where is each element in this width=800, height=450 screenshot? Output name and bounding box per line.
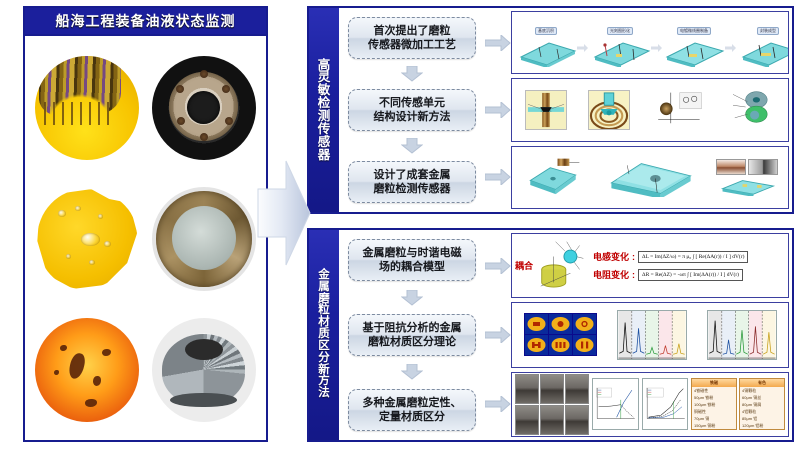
fab-step-4: 封装成型 [737,19,789,67]
result-table-nonferrous: 有色 4铜颗粒 60μm 铜丝 80μm 铜屑 4铝颗粒 85μm 铝 120μ… [739,378,785,430]
sensor-photo-icon [716,159,746,175]
photo-cell-5 [30,305,145,434]
step-chip-line1: 设计了成套金属 [352,168,472,182]
step-chip-line2: 传感器微加工工艺 [352,38,472,52]
fab-step-label: 封装成型 [757,27,779,35]
table-row: 85μm 铝 [740,415,784,422]
particle-3d-plot [650,89,706,130]
fab-step-label: 光刻图形化 [607,27,633,35]
sensor-photos-and-section [716,159,780,196]
right-arrow-icon [577,39,589,47]
fab-step-label: 电镀微线圈制备 [677,27,711,35]
table-header: 铁磁 [692,379,736,387]
table-row: 4铁磁性 [692,387,736,394]
black-hub-rusty-flange-photo [152,56,256,160]
orange-oil-with-debris-photo [35,318,139,422]
sensor-assembly-figure [511,146,789,209]
particle-photo-grid [515,374,589,435]
substrate-slab-icon [515,37,577,67]
inductance-formula: ΔL = Im(ΔZ/ω) = π μ₀ ∫ [ Re(ΔA(r)) / I ]… [638,251,748,263]
step-chip-line2: 定量材质区分 [352,410,472,424]
step-chip-line2: 结构设计新方法 [352,110,472,124]
step-chip-4[interactable]: 金属磨粒与时谐电磁 场的耦合模型 [348,239,476,281]
step-chip-line1: 首次提出了磨粒 [352,24,472,38]
step-chip-1[interactable]: 首次提出了磨粒 传感器微加工工艺 [348,17,476,59]
impedance-heatmap-grid [524,313,597,356]
poster-canvas: 船海工程装备油液状态监测 [0,0,800,450]
panel-2-figure-rows: 耦合 [485,233,789,437]
table-row: 4铝颗粒 [740,408,784,415]
sensing-unit-structure-figure [511,78,789,141]
table-row: 铜磁性 [692,408,736,415]
spectra-chart-left [617,310,687,360]
sidebar-char: 金 [318,270,330,282]
table-header: 有色 [740,379,784,387]
right-arrow-icon [485,327,511,343]
figure-row-2 [485,78,789,141]
step-chip-line2: 磨粒检测传感器 [352,182,472,196]
photo-cell-1 [30,44,145,173]
panel-2-sidebar-title: 金 属 磨 粒 材 质 区 分 新 方 法 [309,230,339,440]
panel-1-step-flow: 首次提出了磨粒 传感器微加工工艺 不同传感单元 结构设计新方法 设计了成套金属 … [339,8,485,212]
oil-sample-dark-streaks-photo [35,56,139,160]
fab-step-3: 电镀微线圈制备 [663,19,725,67]
down-arrow-icon [401,364,423,380]
sidebar-char: 属 [318,282,330,294]
step-chip-line1: 不同传感单元 [352,96,472,110]
table-row: 4铜颗粒 [740,387,784,394]
coupling-diagram [537,238,589,293]
photo-cell-3 [30,175,145,304]
corroded-bearing-ring-photo [152,187,256,291]
figure-row-4: 耦合 [485,233,789,298]
photo-cell-6 [147,305,262,434]
table-row: 50μm 铁粉 [692,394,736,401]
down-arrow-icon [401,66,423,82]
step-chip-3[interactable]: 设计了成套金属 磨粒检测传感器 [348,161,476,203]
step-chip-line1: 金属磨粒与时谐电磁 [352,246,472,260]
table-row: 80μm 铜屑 [740,401,784,408]
step-chip-5[interactable]: 基于阻抗分析的金属 磨粒材质区分理论 [348,314,476,356]
inductance-change-label: 电感变化 [593,250,629,263]
table-row: 150μm 铜粉 [692,422,736,429]
photo-cell-4 [147,175,262,304]
right-arrow-icon [485,396,511,412]
channel-slab-icon [716,176,780,196]
sidebar-char: 测 [318,110,331,123]
oil-sample-photo-grid [26,38,265,440]
particle-photo [565,374,589,404]
magnetic-field-sim-icon [525,90,567,130]
sidebar-char: 器 [318,149,331,162]
flux-density-sim-icon [588,90,630,130]
patterned-slab-icon [589,37,651,67]
right-arrow-icon [485,169,511,185]
step-chip-line2: 场的耦合模型 [352,260,472,274]
sensor-section-icon [748,159,778,175]
right-arrow-icon [485,35,511,51]
figure-row-6: 铁磁 4铁磁性 50μm 铁粉 100μm 铁粉 铜磁性 70μm 铜 150μ… [485,372,789,437]
right-arrow-icon [485,102,511,118]
figure-row-5 [485,302,789,367]
micro-fabrication-figure: 基底沉积 [511,11,789,74]
particle-photo [515,405,539,435]
sidebar-char: 区 [318,341,330,353]
result-tables: 铁磁 4铁磁性 50μm 铁粉 100μm 铁粉 铜磁性 70μm 铜 150μ… [691,378,785,430]
particle-photo [565,405,589,435]
step-chip-line1: 基于阻抗分析的金属 [352,321,472,335]
result-table-ferrous: 铁磁 4铁磁性 50μm 铁粉 100μm 铁粉 铜磁性 70μm 铜 150μ… [691,378,737,430]
particle-photo [540,374,564,404]
full-sensor-3d [596,153,706,202]
electroplated-coil-slab-icon [663,37,725,67]
panel-1-sidebar-title: 高 灵 敏 检 测 传 感 器 [309,8,339,212]
sidebar-char: 感 [318,136,331,149]
yellow-oil-droplet-photo [35,187,139,291]
coupling-model-figure: 耦合 [511,233,789,298]
packaged-sensor-slab-icon [737,37,789,67]
right-arrow-icon [725,39,737,47]
page-title: 船海工程装备油液状态监测 [23,6,268,36]
impedance-analysis-figure [511,302,789,367]
step-chip-line2: 磨粒材质区分理论 [352,335,472,349]
right-arrow-icon [485,258,511,274]
table-row: 120μm 铝粉 [740,422,784,429]
sidebar-char: 分 [318,353,330,365]
figure-row-3 [485,146,789,209]
down-arrow-icon [401,138,423,154]
fab-step-2: 光刻图形化 [589,19,651,67]
sidebar-char: 法 [318,388,330,400]
calibration-chart-1 [592,378,639,430]
panel-2-step-flow: 金属磨粒与时谐电磁 场的耦合模型 基于阻抗分析的金属 磨粒材质区分理论 多种金属… [339,230,485,440]
panel-material-discrimination: 金 属 磨 粒 材 质 区 分 新 方 法 金属磨粒与时谐电磁 场的耦合模型 基… [307,228,794,442]
down-arrow-icon [401,290,423,306]
figure-row-1: 基底沉积 [485,11,789,74]
coil-structure-3d [727,89,775,130]
calibration-chart-2 [642,378,689,430]
fab-step-label: 基底沉积 [535,27,557,35]
step-chip-6[interactable]: 多种金属磨粒定性、 定量材质区分 [348,389,476,431]
fab-step-1: 基底沉积 [515,19,577,67]
panel-1-figure-rows: 基底沉积 [485,11,789,209]
sidebar-char: 传 [318,123,331,136]
table-row: 100μm 铁粉 [692,401,736,408]
microchannel-chip-3d [520,155,586,200]
step-chip-2[interactable]: 不同传感单元 结构设计新方法 [348,89,476,131]
resistance-change-label: 电阻变化 [593,268,629,281]
particle-photo [540,405,564,435]
quantitative-discrimination-figure: 铁磁 4铁磁性 50μm 铁粉 100μm 铁粉 铜磁性 70μm 铜 150μ… [511,372,789,437]
table-row: 70μm 铜 [692,415,736,422]
table-row: 60μm 铜丝 [740,394,784,401]
coupling-label: 耦合 [515,259,533,272]
right-arrow-icon [651,39,663,47]
worn-metal-gear-photo [152,318,256,422]
step-chip-line1: 多种金属磨粒定性、 [352,396,472,410]
particle-photo [515,374,539,404]
resistance-formula: ΔR = Re(ΔZ) = -ωπ ∫ [ Im(ΔA(r)) / I ] dV… [638,269,743,281]
photo-cell-2 [147,44,262,173]
panel-high-sensitivity-sensor: 高 灵 敏 检 测 传 感 器 首次提出了磨粒 传感器微加工工艺 不同传感单元 … [307,6,794,214]
spectra-chart-right [707,310,777,360]
